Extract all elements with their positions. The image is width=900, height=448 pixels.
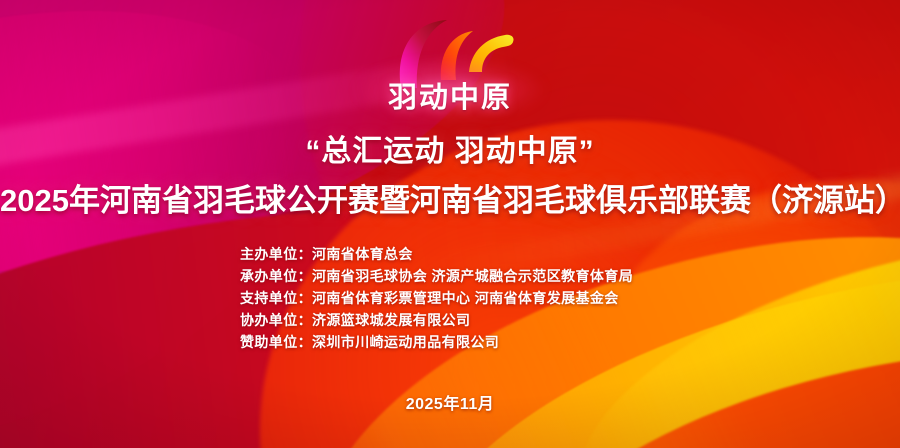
event-date: 2025年11月: [0, 390, 900, 414]
event-slogan: “总汇运动 羽动中原”: [0, 126, 900, 170]
organizer-line: 主办单位：河南省体育总会: [240, 243, 660, 265]
organizer-line: 赞助单位：深圳市川崎运动用品有限公司: [240, 331, 660, 353]
organizer-list: 主办单位：河南省体育总会 承办单位：河南省羽毛球协会 济源产城融合示范区教育体育…: [0, 243, 900, 353]
event-logo: 羽动中原: [0, 14, 900, 119]
organizer-line: 协办单位：济源篮球城发展有限公司: [240, 309, 660, 331]
organizer-line: 承办单位：河南省羽毛球协会 济源产城融合示范区教育体育局: [240, 265, 660, 287]
organizer-line: 支持单位：河南省体育彩票管理中心 河南省体育发展基金会: [240, 287, 660, 309]
event-poster: 羽动中原 “总汇运动 羽动中原” 2025年河南省羽毛球公开赛暨河南省羽毛球俱乐…: [0, 0, 900, 448]
event-headline: 2025年河南省羽毛球公开赛暨河南省羽毛球俱乐部联赛（济源站）: [0, 175, 900, 220]
logo-wordmark: 羽动中原: [388, 74, 512, 116]
